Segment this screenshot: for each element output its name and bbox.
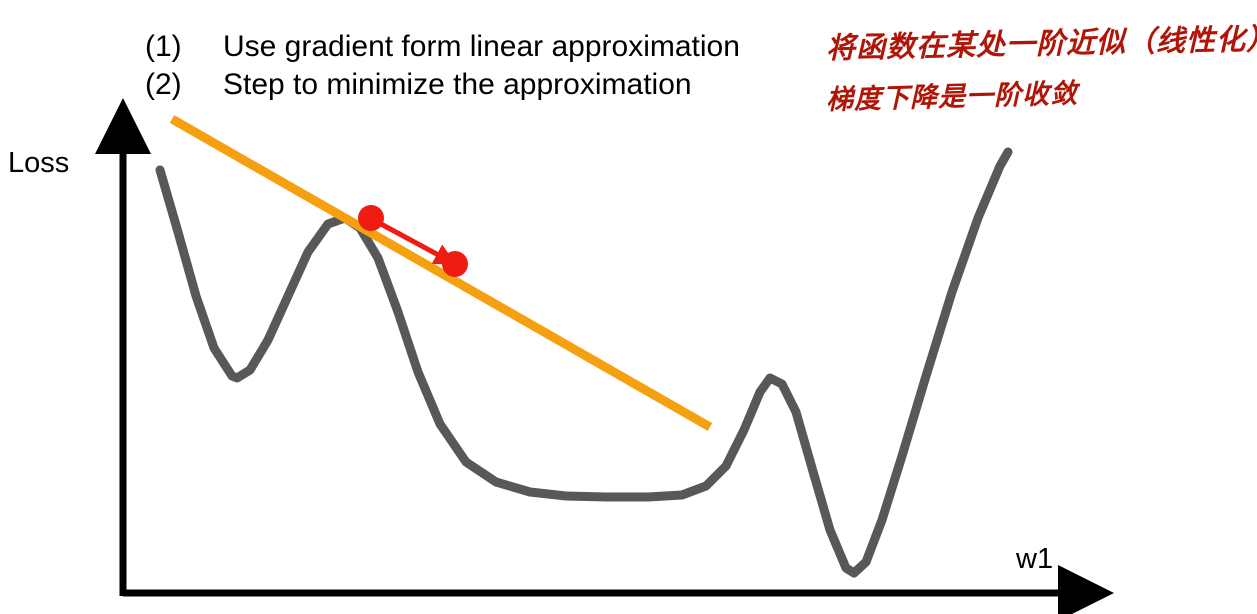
handwritten-annotation-linearization: 将函数在某处一阶近似（线性化） [826,16,1257,67]
bullet-item-1: (1) Use gradient form linear approximati… [145,28,825,66]
linear-approximation-line [172,119,710,427]
loss-curve [160,152,1008,573]
bullet-marker: (2) [145,66,223,104]
stepped-point-marker [442,251,468,277]
handwritten-annotation-first-order-convergence: 梯度下降是一阶收敛 [825,71,1078,117]
slide-canvas: (1) Use gradient form linear approximati… [0,0,1257,614]
bullet-list: (1) Use gradient form linear approximati… [145,28,825,104]
y-axis-label: Loss [8,147,69,180]
current-point-marker [358,205,384,231]
bullet-text: Step to minimize the approximation [223,66,692,104]
bullet-text: Use gradient form linear approximation [223,28,740,66]
bullet-item-2: (2) Step to minimize the approximation [145,66,825,104]
bullet-marker: (1) [145,28,223,66]
x-axis-label: w1 [1016,543,1053,576]
